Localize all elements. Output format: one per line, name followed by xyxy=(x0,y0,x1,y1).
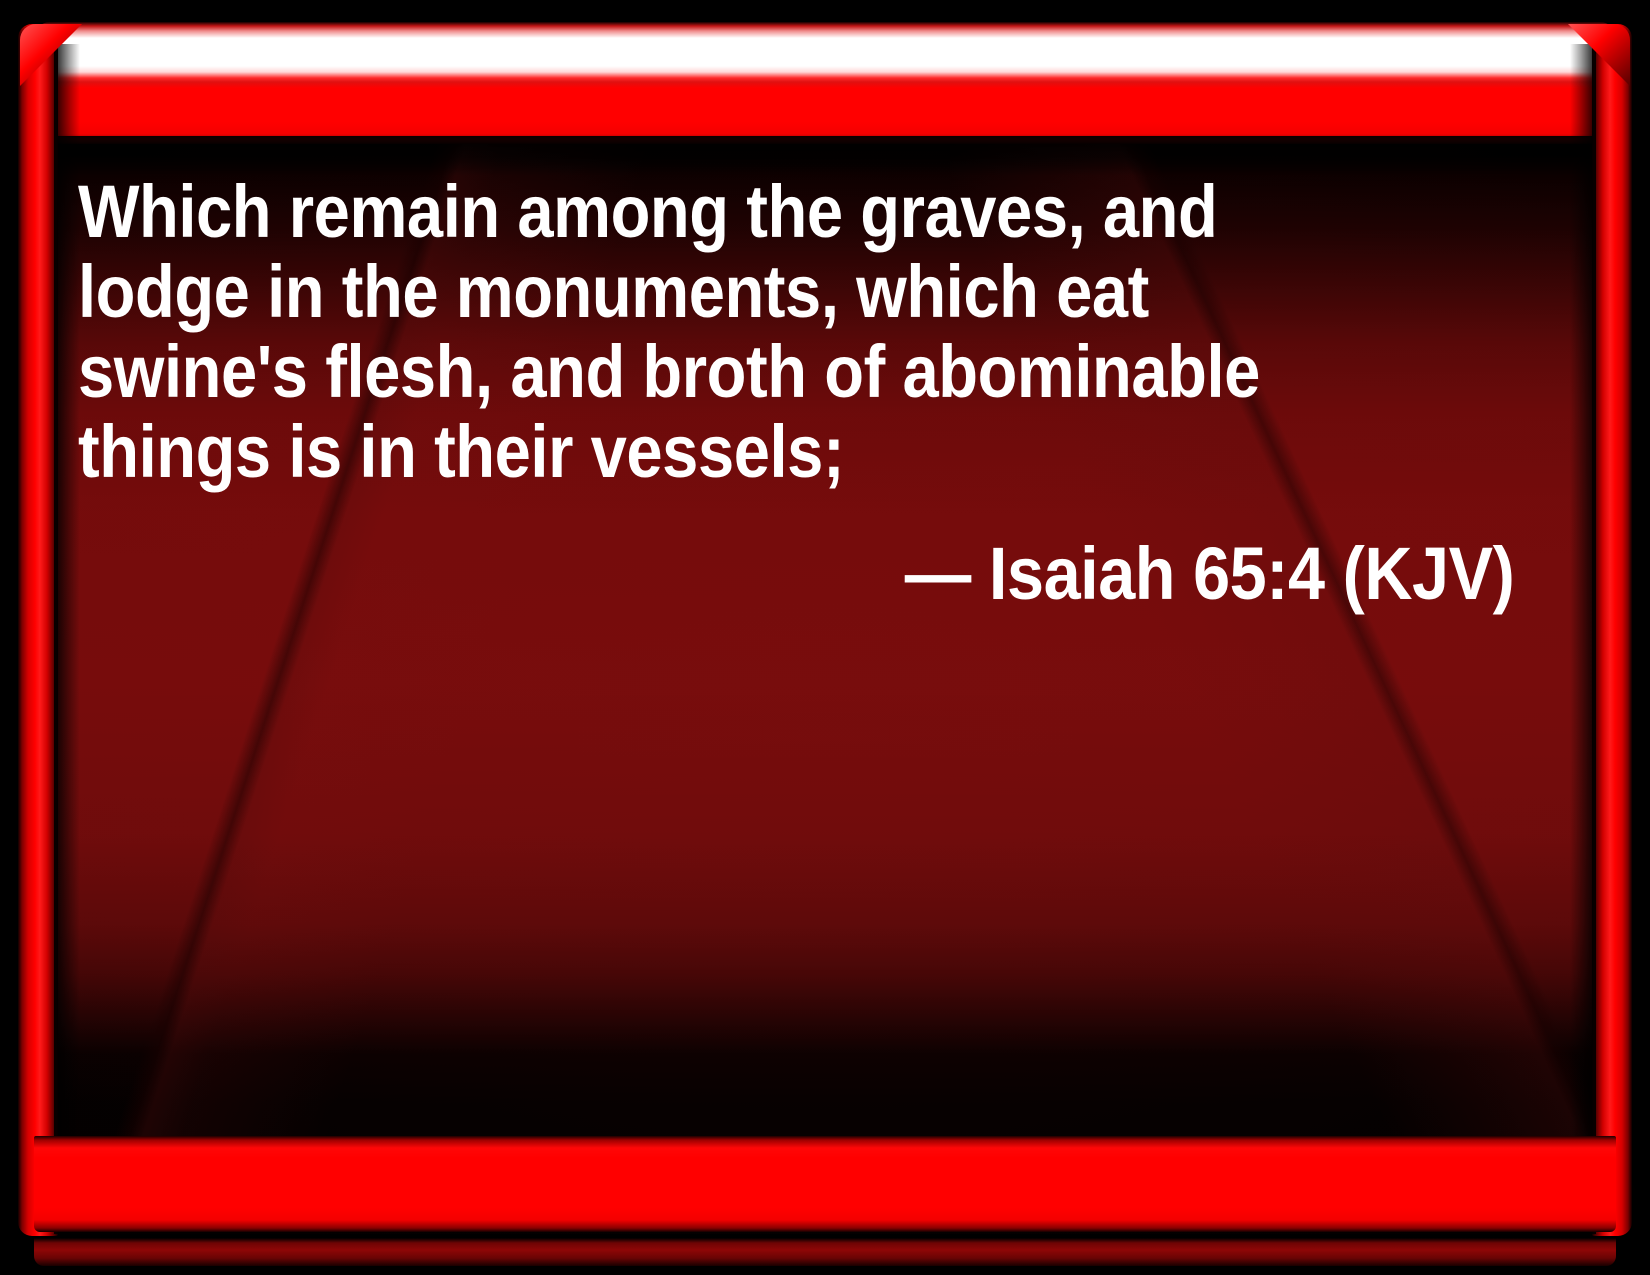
verse-text: Which remain among the graves, and lodge… xyxy=(78,172,1363,492)
verse-text-block: Which remain among the graves, and lodge… xyxy=(78,172,1538,614)
frame-bottom-bar xyxy=(34,1136,1616,1232)
frame-left-rail xyxy=(18,24,58,1236)
verse-slide: Which remain among the graves, and lodge… xyxy=(0,0,1650,1275)
verse-attribution: — Isaiah 65:4 (KJV) xyxy=(78,492,1538,614)
frame-bottom-reflection xyxy=(34,1238,1616,1266)
frame-left-shadow xyxy=(54,44,80,1234)
frame-top-bar xyxy=(34,22,1616,144)
frame-right-rail xyxy=(1592,24,1632,1236)
verse-attribution-label: — Isaiah 65:4 (KJV) xyxy=(904,534,1514,614)
frame-right-shadow xyxy=(1570,44,1596,1234)
